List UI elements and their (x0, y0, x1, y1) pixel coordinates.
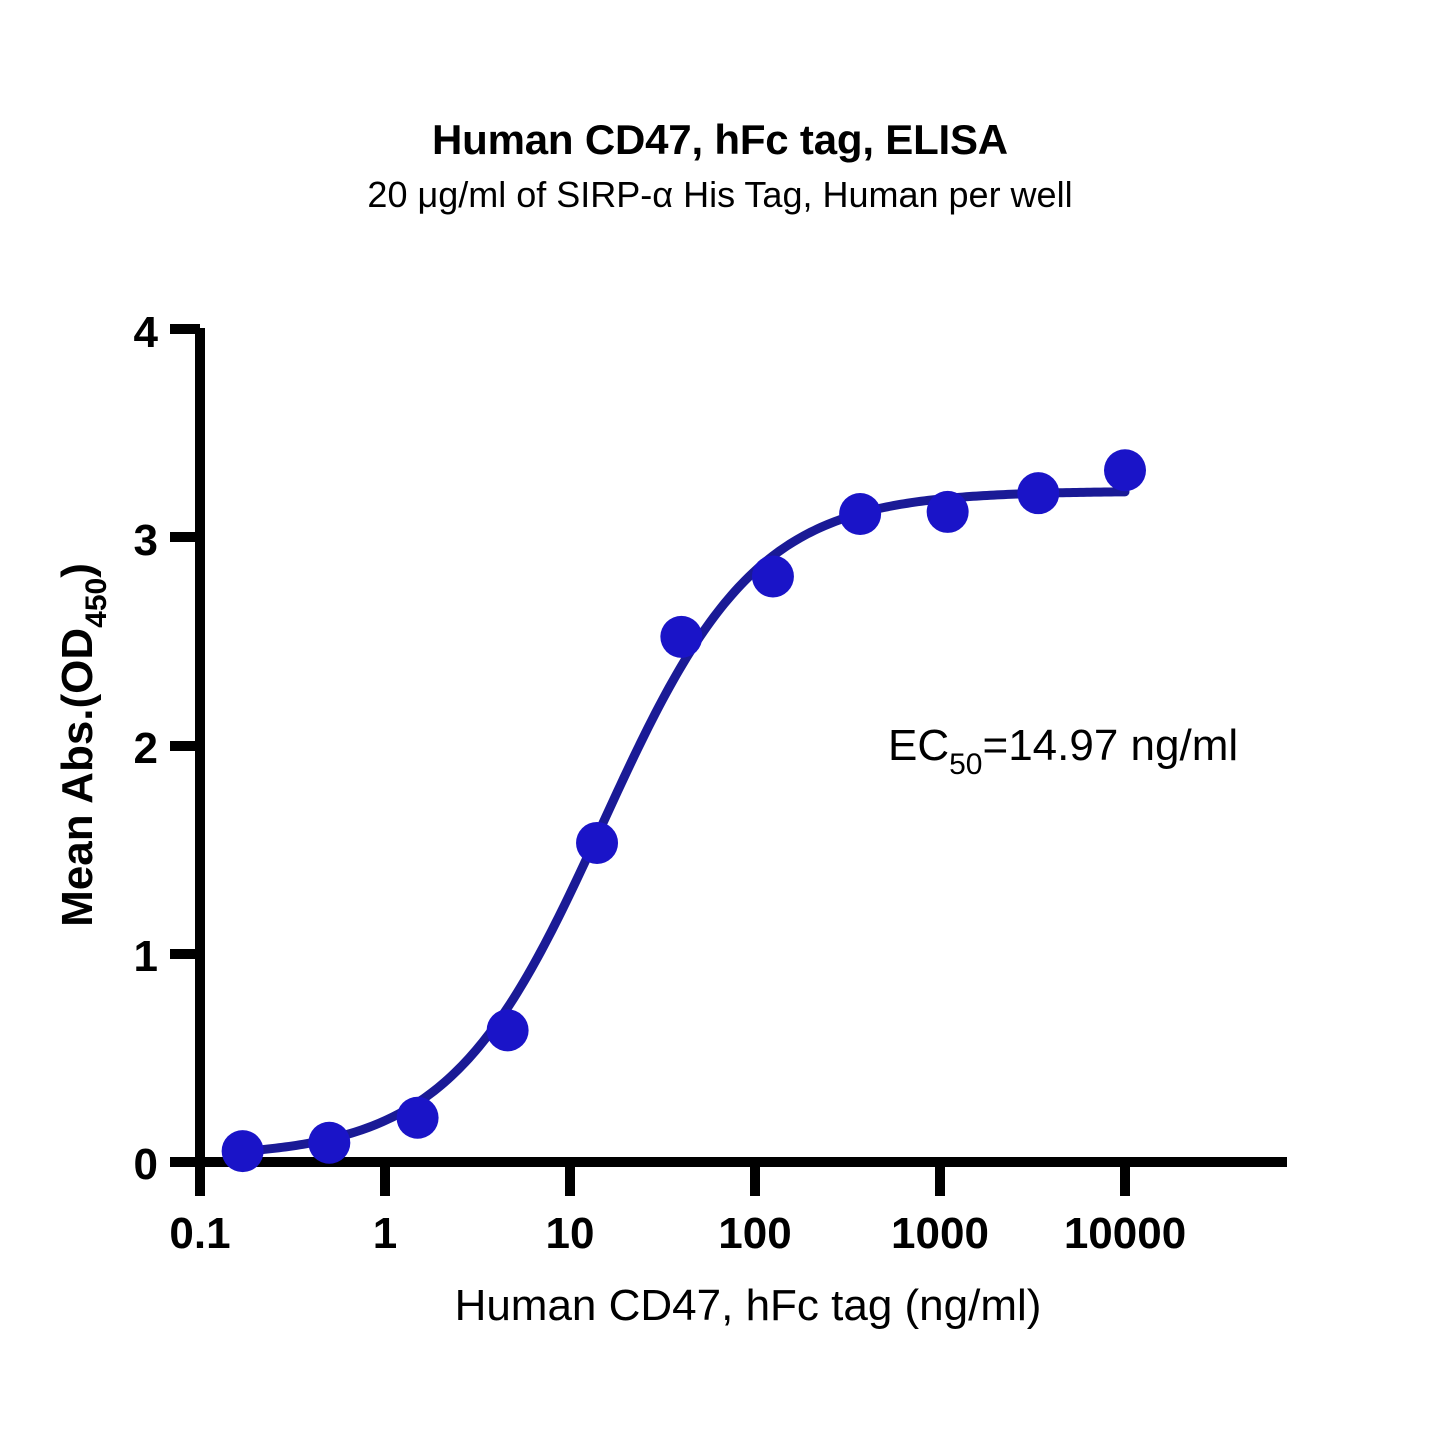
fit-curve (227, 492, 1125, 1153)
ec50-subscript: 50 (949, 748, 982, 781)
x-axis-ticks (200, 1162, 1125, 1196)
y-axis-title: Mean Abs.(OD450) (53, 563, 113, 927)
data-point (397, 1097, 439, 1139)
data-point (660, 616, 702, 658)
data-point (927, 491, 969, 533)
data-point (1104, 449, 1146, 491)
ec50-suffix: =14.97 ng/ml (983, 721, 1239, 770)
y-axis-tick-labels: 0 1 2 3 4 (134, 308, 159, 1189)
y-tick-label-0: 0 (134, 1140, 158, 1189)
svg-text:EC50=14.97 ng/ml: EC50=14.97 ng/ml (888, 721, 1238, 781)
y-axis-title-main: Mean Abs.(OD (53, 628, 102, 927)
data-point (1017, 472, 1059, 514)
data-point (222, 1130, 264, 1172)
ec50-annotation: EC50=14.97 ng/ml (888, 721, 1238, 781)
y-tick-label-3: 3 (134, 516, 158, 565)
y-tick-label-1: 1 (134, 932, 158, 981)
y-axis-title-subscript: 450 (80, 578, 113, 628)
x-tick-label-1: 1 (373, 1209, 397, 1258)
svg-text:Mean Abs.(OD450): Mean Abs.(OD450) (53, 563, 113, 927)
x-tick-label-5: 10000 (1064, 1209, 1186, 1258)
data-point (308, 1122, 350, 1164)
x-axis-tick-labels: 0.1 1 10 100 1000 10000 (169, 1209, 1186, 1258)
data-point (839, 493, 881, 535)
data-point-group (222, 449, 1146, 1172)
data-point (576, 822, 618, 864)
y-tick-label-4: 4 (134, 308, 159, 357)
y-axis-title-close: ) (53, 563, 102, 578)
y-tick-label-2: 2 (134, 724, 158, 773)
plot-area: 0 1 2 3 4 0.1 1 10 100 1000 10000 (0, 0, 1440, 1440)
data-point (487, 1009, 529, 1051)
ec50-prefix: EC (888, 721, 949, 770)
chart-figure: Human CD47, hFc tag, ELISA 20 μg/ml of S… (0, 0, 1440, 1440)
x-tick-label-0: 0.1 (169, 1209, 230, 1258)
x-tick-label-4: 1000 (891, 1209, 989, 1258)
data-point (752, 555, 794, 597)
x-tick-label-3: 100 (718, 1209, 791, 1258)
x-axis-title: Human CD47, hFc tag (ng/ml) (455, 1281, 1042, 1330)
x-tick-label-2: 10 (546, 1209, 595, 1258)
